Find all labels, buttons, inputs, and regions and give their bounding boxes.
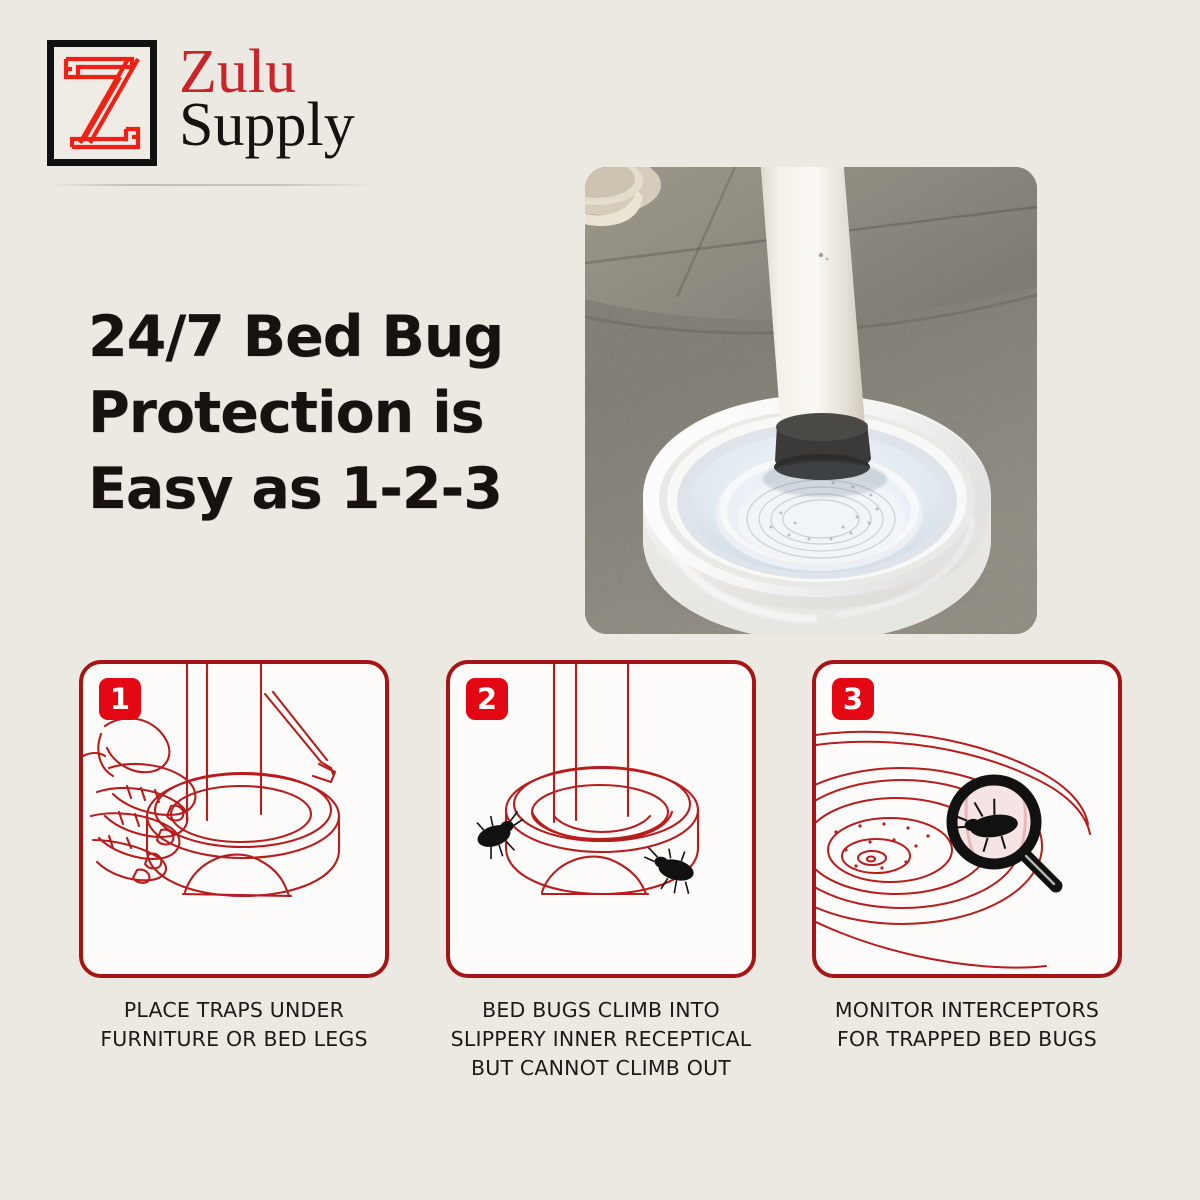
step-2-caption-line-1: BED BUGS CLIMB INTO <box>446 996 756 1025</box>
step-3: 3 <box>812 660 1122 1054</box>
step-1-panel: 1 <box>79 660 389 978</box>
step-3-caption-line-2: FOR TRAPPED BED BUGS <box>812 1025 1122 1054</box>
headline-line-2: Protection is <box>88 376 558 452</box>
page-title: 24/7 Bed Bug Protection is Easy as 1-2-3 <box>88 300 558 527</box>
step-1-caption-line-2: FURNITURE OR BED LEGS <box>79 1025 389 1054</box>
step-2-badge: 2 <box>466 678 508 720</box>
step-2-panel: 2 <box>446 660 756 978</box>
product-photo <box>585 167 1037 634</box>
step-3-caption-line-1: MONITOR INTERCEPTORS <box>812 996 1122 1025</box>
step-2-caption-line-2: SLIPPERY INNER RECEPTICAL <box>446 1025 756 1054</box>
step-1-badge: 1 <box>99 678 141 720</box>
step-1-caption-line-1: PLACE TRAPS UNDER <box>79 996 389 1025</box>
logo-divider <box>47 184 377 186</box>
step-3-badge: 3 <box>832 678 874 720</box>
headline-line-3: Easy as 1-2-3 <box>88 452 558 528</box>
step-1: 1 <box>79 660 389 1054</box>
step-3-caption: MONITOR INTERCEPTORS FOR TRAPPED BED BUG… <box>812 996 1122 1054</box>
headline-line-1: 24/7 Bed Bug <box>88 300 558 376</box>
magnifier-glass <box>951 780 1056 886</box>
step-2-caption-line-3: BUT CANNOT CLIMB OUT <box>446 1054 756 1083</box>
step-2: 2 <box>446 660 756 1083</box>
step-1-caption: PLACE TRAPS UNDER FURNITURE OR BED LEGS <box>79 996 389 1054</box>
zulu-z-mark-icon <box>47 40 157 166</box>
brand-wordmark: Zulu Supply <box>179 44 355 154</box>
infographic-canvas: Zulu Supply 24/7 Bed Bug Protection is E… <box>0 0 1200 1200</box>
brand-name-supply: Supply <box>179 97 355 154</box>
brand-logo: Zulu Supply <box>47 40 355 166</box>
step-3-panel: 3 <box>812 660 1122 978</box>
step-2-caption: BED BUGS CLIMB INTO SLIPPERY INNER RECEP… <box>446 996 756 1083</box>
